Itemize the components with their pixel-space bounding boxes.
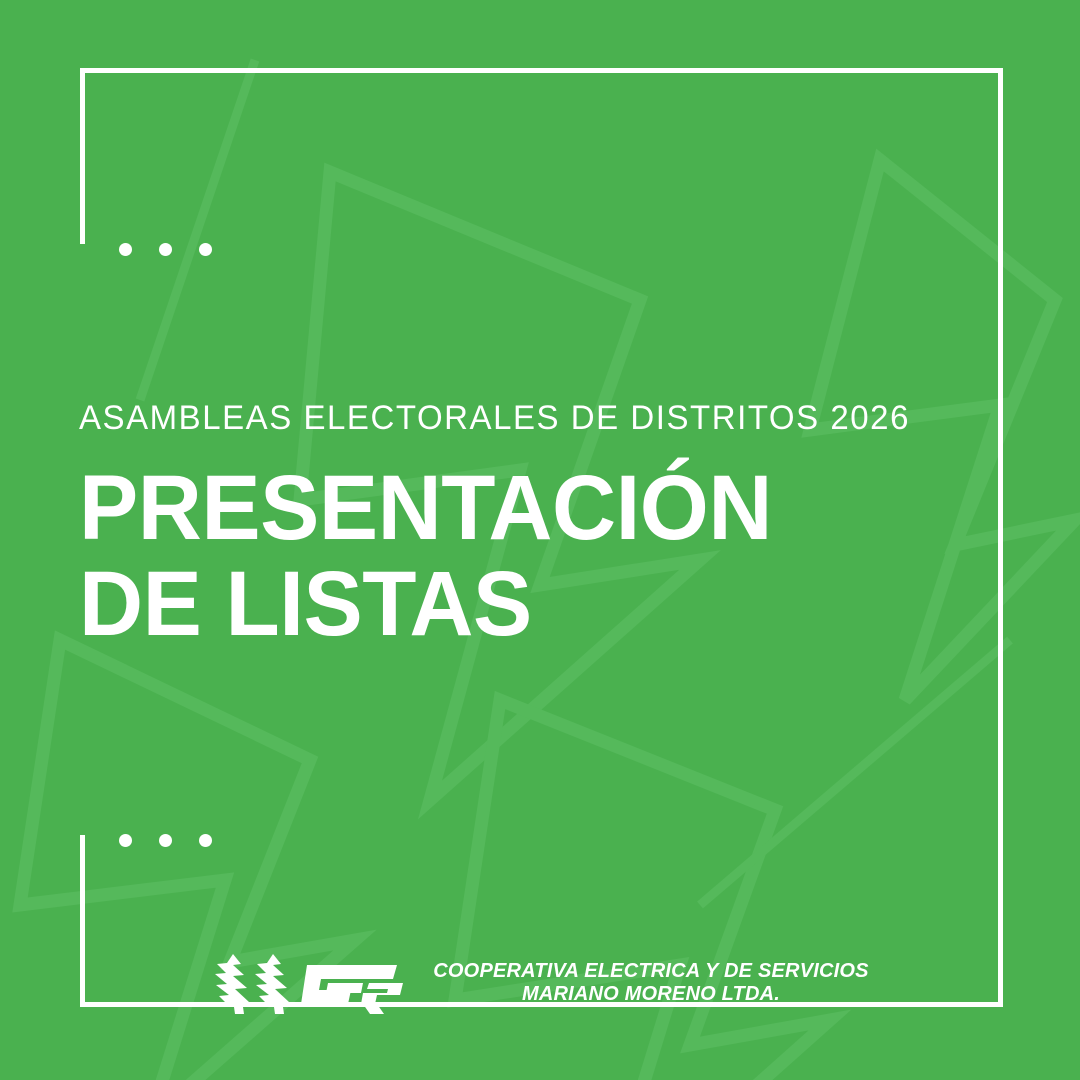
ces-wordmark bbox=[301, 965, 403, 1014]
subtitle: ASAMBLEAS ELECTORALES DE DISTRITOS 2026 bbox=[79, 398, 952, 438]
frame-right-line bbox=[998, 68, 1003, 1007]
dots-group-top bbox=[119, 243, 212, 256]
dot-icon bbox=[159, 834, 172, 847]
dot-icon bbox=[199, 243, 212, 256]
pine-tree-icon bbox=[255, 954, 289, 1014]
logo-tagline-line-1: COOPERATIVA ELECTRICA Y DE SERVICIOS bbox=[433, 960, 868, 983]
page-title: PRESENTACIÓN DE LISTAS bbox=[79, 460, 948, 652]
headline-line-1: PRESENTACIÓN bbox=[79, 460, 948, 556]
dot-icon bbox=[119, 834, 132, 847]
dots-group-bottom bbox=[119, 834, 212, 847]
headline-line-2: DE LISTAS bbox=[79, 556, 948, 652]
logo-lockup: COOPERATIVA ELECTRICA Y DE SERVICIOS MAR… bbox=[0, 952, 1080, 1014]
pine-tree-icon bbox=[215, 954, 249, 1014]
frame-left-upper-line bbox=[80, 68, 85, 244]
ces-logo-mark bbox=[211, 952, 411, 1014]
dot-icon bbox=[159, 243, 172, 256]
text-block: ASAMBLEAS ELECTORALES DE DISTRITOS 2026 … bbox=[79, 398, 979, 652]
poster-canvas: ASAMBLEAS ELECTORALES DE DISTRITOS 2026 … bbox=[0, 0, 1080, 1080]
logo-tagline: COOPERATIVA ELECTRICA Y DE SERVICIOS MAR… bbox=[433, 960, 868, 1006]
logo-tagline-line-2: MARIANO MORENO LTDA. bbox=[433, 983, 868, 1006]
frame-top-line bbox=[80, 68, 1003, 73]
dot-icon bbox=[199, 834, 212, 847]
dot-icon bbox=[119, 243, 132, 256]
